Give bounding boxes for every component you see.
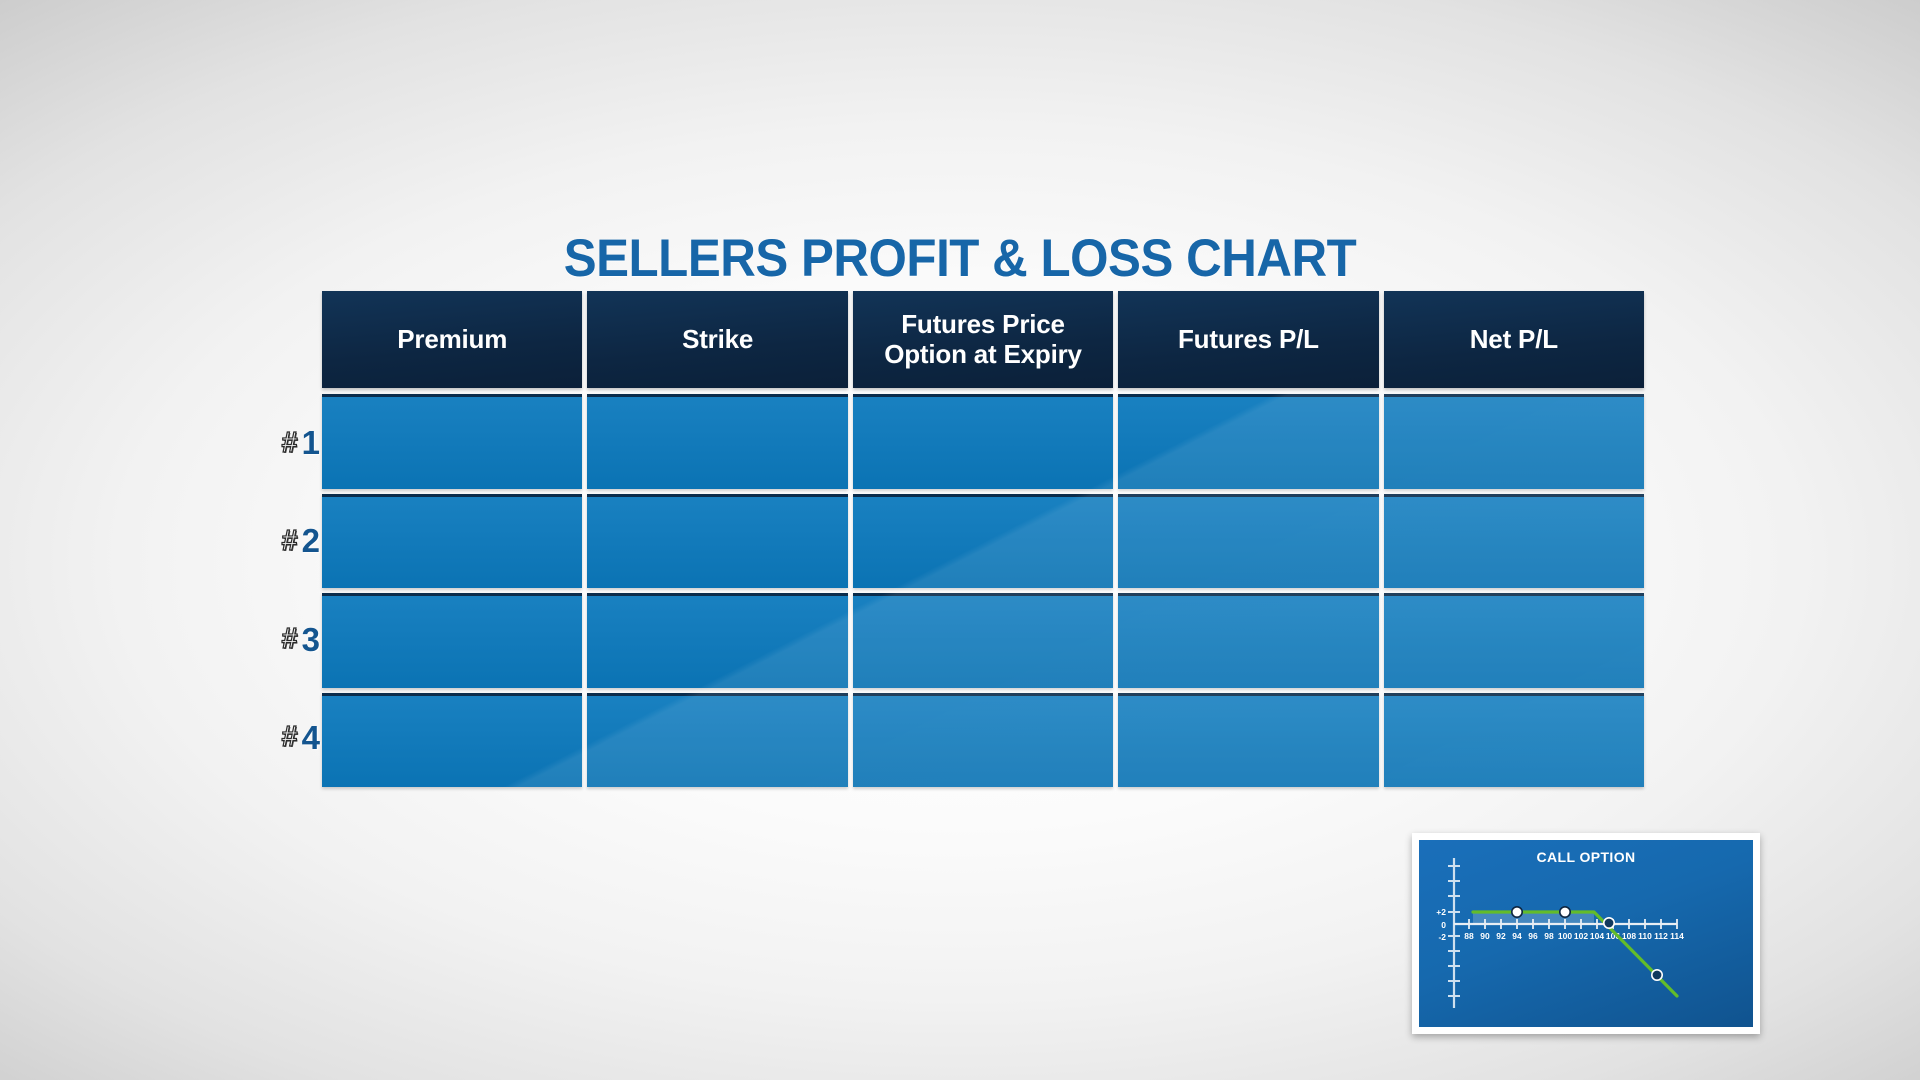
cell-row4-premium[interactable] (322, 693, 582, 788)
cell-row3-strike[interactable] (587, 593, 847, 688)
cell-row2-futures-pl[interactable] (1118, 494, 1378, 589)
table-body (322, 394, 1644, 787)
cell-row4-net-pl[interactable] (1384, 693, 1644, 788)
svg-text:90: 90 (1480, 931, 1490, 941)
svg-text:114: 114 (1670, 931, 1684, 941)
profit-loss-table: Premium Strike Futures Price Option at E… (322, 291, 1644, 787)
svg-text:+2: +2 (1436, 907, 1446, 917)
column-header-net-pl: Net P/L (1384, 291, 1644, 388)
row-label-3: # 3 (250, 591, 320, 689)
row-label-2: # 2 (250, 492, 320, 590)
row-3-number: 3 (302, 621, 320, 659)
cell-row4-futures-pl[interactable] (1118, 693, 1378, 788)
x-axis-tick-labels: 88 90 92 94 96 98 100 102 104 106 108 11… (1464, 931, 1684, 941)
slide-stage: SELLERS PROFIT & LOSS CHART # 1 # 2 # 3 … (0, 0, 1920, 1080)
table-row (322, 494, 1644, 589)
table-header-row: Premium Strike Futures Price Option at E… (322, 291, 1644, 388)
call-option-chart-panel[interactable]: CALL OPTION (1412, 833, 1760, 1034)
svg-text:88: 88 (1464, 931, 1474, 941)
cell-row1-net-pl[interactable] (1384, 394, 1644, 489)
column-header-futures-pl-label: Futures P/L (1178, 325, 1319, 354)
cell-row4-futures-price-at-expiry[interactable] (853, 693, 1113, 788)
svg-text:92: 92 (1496, 931, 1506, 941)
data-point-marker-112 (1652, 970, 1662, 980)
table-row (322, 394, 1644, 489)
cell-row1-futures-price-at-expiry[interactable] (853, 394, 1113, 489)
svg-text:-2: -2 (1438, 932, 1446, 942)
svg-text:100: 100 (1558, 931, 1572, 941)
row-label-4: # 4 (250, 689, 320, 787)
column-header-premium: Premium (322, 291, 582, 388)
column-header-futures-price-at-expiry: Futures Price Option at Expiry (853, 291, 1113, 388)
cell-row2-futures-price-at-expiry[interactable] (853, 494, 1113, 589)
data-point-marker-106 (1604, 918, 1614, 928)
cell-row2-strike[interactable] (587, 494, 847, 589)
column-header-net-pl-label: Net P/L (1470, 325, 1558, 354)
cell-row3-net-pl[interactable] (1384, 593, 1644, 688)
svg-text:98: 98 (1544, 931, 1554, 941)
svg-text:110: 110 (1638, 931, 1652, 941)
svg-text:102: 102 (1574, 931, 1588, 941)
page-title: SELLERS PROFIT & LOSS CHART (67, 228, 1853, 289)
column-header-strike: Strike (587, 291, 847, 388)
cell-row1-futures-pl[interactable] (1118, 394, 1378, 489)
row-2-hash-symbol: # (282, 525, 298, 558)
y-axis-tick-labels: +2 0 -2 (1436, 907, 1446, 942)
row-3-hash-symbol: # (282, 623, 298, 656)
cell-row3-futures-pl[interactable] (1118, 593, 1378, 688)
column-header-premium-label: Premium (397, 325, 507, 354)
cell-row1-strike[interactable] (587, 394, 847, 489)
svg-text:0: 0 (1441, 920, 1446, 930)
row-label-column: # 1 # 2 # 3 # 4 (250, 394, 320, 787)
svg-text:96: 96 (1528, 931, 1538, 941)
svg-text:94: 94 (1512, 931, 1522, 941)
cell-row1-premium[interactable] (322, 394, 582, 489)
svg-text:104: 104 (1590, 931, 1604, 941)
table-row (322, 593, 1644, 688)
column-header-futures-price-line2: Option at Expiry (884, 340, 1082, 369)
cell-row2-net-pl[interactable] (1384, 494, 1644, 589)
cell-row3-futures-price-at-expiry[interactable] (853, 593, 1113, 688)
column-header-strike-label: Strike (682, 325, 753, 354)
svg-text:108: 108 (1622, 931, 1636, 941)
cell-row2-premium[interactable] (322, 494, 582, 589)
row-4-number: 4 (302, 719, 320, 757)
row-2-number: 2 (302, 522, 320, 560)
cell-row3-premium[interactable] (322, 593, 582, 688)
data-point-marker-100 (1560, 907, 1570, 917)
data-point-marker-94 (1512, 907, 1522, 917)
column-header-futures-pl: Futures P/L (1118, 291, 1378, 388)
svg-text:112: 112 (1654, 931, 1668, 941)
call-option-payoff-svg: 88 90 92 94 96 98 100 102 104 106 108 11… (1419, 840, 1753, 1027)
row-4-hash-symbol: # (282, 721, 298, 754)
row-label-1: # 1 (250, 394, 320, 492)
row-1-hash-symbol: # (282, 427, 298, 460)
call-option-chart-canvas: CALL OPTION (1419, 840, 1753, 1027)
row-1-number: 1 (302, 424, 320, 462)
cell-row4-strike[interactable] (587, 693, 847, 788)
table-row (322, 693, 1644, 788)
column-header-futures-price-line1: Futures Price (884, 310, 1082, 339)
